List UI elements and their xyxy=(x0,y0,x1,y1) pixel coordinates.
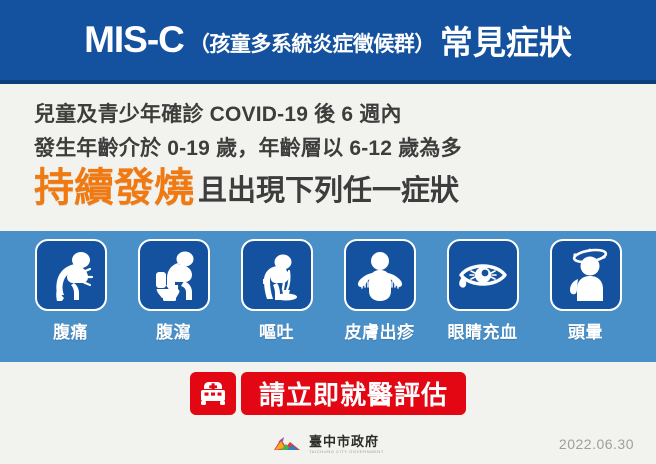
hospital-icon xyxy=(198,379,228,407)
symptom-item-bloodshot-eye: 眼睛充血 xyxy=(438,239,528,343)
symptom-item-diarrhea: 腹瀉 xyxy=(129,239,219,343)
logo-english-name: TAICHUNG CITY GOVERNMENT xyxy=(309,450,384,454)
symptom-label: 眼睛充血 xyxy=(448,318,518,343)
cta-label: 請立即就醫評估 xyxy=(259,375,448,412)
fever-highlight-text: 持續發燒 xyxy=(34,168,194,208)
symptom-label: 皮膚出疹 xyxy=(345,318,415,343)
fever-rest-text: 且出現下列任一症狀 xyxy=(198,177,459,208)
taichung-logo-mark xyxy=(272,434,302,454)
subtitle-line-1: 兒童及青少年確診 COVID-19 後 6 週內 xyxy=(34,98,402,128)
dizziness-icon xyxy=(556,245,616,305)
poster-header: MIS-C （孩童多系統炎症徵候群） 常見症狀 xyxy=(0,0,656,84)
cta-banner[interactable]: 請立即就醫評估 xyxy=(190,372,466,415)
misc-symptoms-poster: MIS-C （孩童多系統炎症徵候群） 常見症狀 兒童及青少年確診 COVID-1… xyxy=(0,0,656,464)
symptom-tile xyxy=(138,239,210,311)
skin-rash-icon xyxy=(350,245,410,305)
symptom-grid: 腹痛 xyxy=(0,231,656,362)
logo-text-group: 臺中市政府 TAICHUNG CITY GOVERNMENT xyxy=(309,435,384,454)
symptom-tile xyxy=(35,239,107,311)
symptom-panel: 腹痛 xyxy=(0,231,656,362)
symptom-tile xyxy=(241,239,313,311)
cta-icon-box xyxy=(190,372,236,415)
government-logo: 臺中市政府 TAICHUNG CITY GOVERNMENT xyxy=(0,424,656,464)
symptom-label: 嘔吐 xyxy=(259,318,294,343)
publish-date: 2022.06.30 xyxy=(559,436,634,452)
header-underline xyxy=(0,80,656,84)
poster-footer: 臺中市政府 TAICHUNG CITY GOVERNMENT 2022.06.3… xyxy=(0,424,656,464)
bloodshot-eye-icon xyxy=(453,245,513,305)
symptom-item-dizziness: 頭暈 xyxy=(541,239,631,343)
symptom-item-skin-rash: 皮膚出疹 xyxy=(335,239,425,343)
page-title: MIS-C （孩童多系統炎症徵候群） 常見症狀 xyxy=(0,0,656,80)
symptom-label: 腹瀉 xyxy=(156,318,191,343)
subtitle-block: 兒童及青少年確診 COVID-19 後 6 週內 發生年齡介於 0-19 歲，年… xyxy=(0,88,656,228)
symptom-label: 頭暈 xyxy=(568,318,603,343)
symptom-item-abdominal-pain: 腹痛 xyxy=(26,239,116,343)
logo-chinese-name: 臺中市政府 xyxy=(309,435,384,448)
symptom-tile xyxy=(550,239,622,311)
diarrhea-icon xyxy=(144,245,204,305)
abdominal-pain-icon xyxy=(41,245,101,305)
title-acronym: MIS-C xyxy=(84,19,184,61)
symptom-item-vomiting: 嘔吐 xyxy=(232,239,322,343)
cta-text-box: 請立即就醫評估 xyxy=(241,372,466,415)
fever-criteria-row: 持續發燒 且出現下列任一症狀 xyxy=(34,168,459,208)
subtitle-line-2: 發生年齡介於 0-19 歲，年齡層以 6-12 歲為多 xyxy=(34,132,462,162)
symptom-tile xyxy=(447,239,519,311)
cta-zone: 請立即就醫評估 xyxy=(0,362,656,424)
symptom-tile xyxy=(344,239,416,311)
symptom-label: 腹痛 xyxy=(53,318,88,343)
vomiting-icon xyxy=(247,245,307,305)
title-parenthetical: （孩童多系統炎症徵候群） xyxy=(189,22,435,58)
title-suffix: 常見症狀 xyxy=(440,16,572,64)
